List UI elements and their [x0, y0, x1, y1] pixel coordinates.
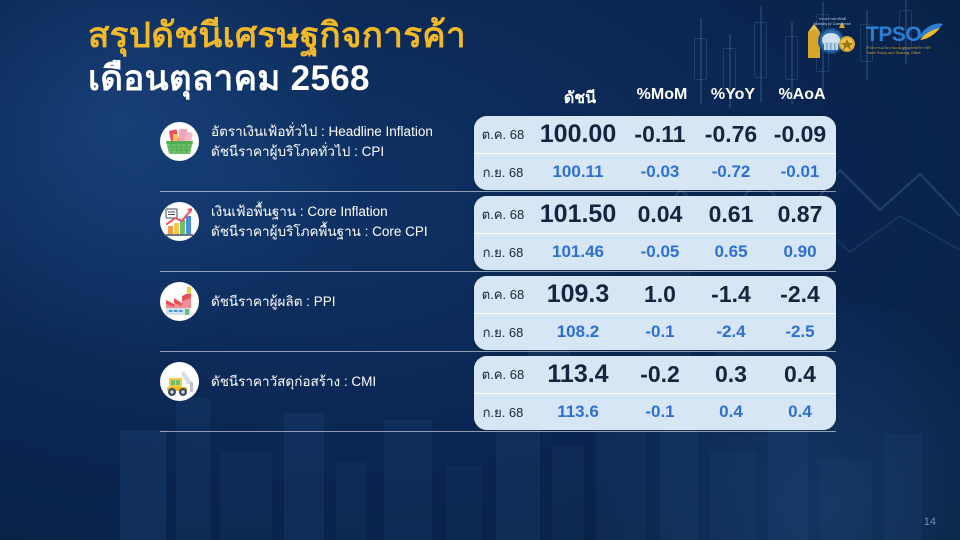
current-period-row: ต.ค. 68 109.3 1.0 -1.4 -2.4	[474, 276, 836, 313]
cell-period: ก.ย. 68	[474, 322, 532, 343]
cell-mom: -0.11	[624, 121, 696, 148]
previous-period-row: ก.ย. 68 101.46 -0.05 0.65 0.90	[474, 233, 836, 270]
previous-period-row: ก.ย. 68 113.6 -0.1 0.4 0.4	[474, 393, 836, 430]
row-label-line-1: อัตราเงินเฟ้อทั่วไป : Headline Inflation	[211, 124, 433, 139]
cell-index: 109.3	[532, 280, 624, 309]
data-card[interactable]: ต.ค. 68 109.3 1.0 -1.4 -2.4 ก.ย. 68 108.…	[474, 276, 836, 350]
tpso-logo: TPSO สำนักงานนโยบายและยุทธศาสตร์การค้า T…	[866, 18, 944, 60]
row-label-group: ดัชนีราคาวัสดุก่อสร้าง : CMI	[160, 362, 490, 401]
cell-period: ก.ย. 68	[474, 242, 532, 263]
cell-period: ก.ย. 68	[474, 162, 532, 183]
cell-aoa: -0.09	[766, 121, 834, 148]
cell-yoy: -2.4	[696, 322, 766, 342]
column-header-yoy: %YoY	[698, 86, 768, 111]
cell-yoy: -1.4	[696, 281, 766, 308]
cell-yoy: 0.61	[696, 201, 766, 228]
row-label-group: เงินเฟ้อพื้นฐาน : Core Inflation ดัชนีรา…	[160, 202, 490, 241]
cell-aoa: -0.01	[766, 162, 834, 182]
cell-aoa: 0.87	[766, 201, 834, 228]
slide-root: สรุปดัชนีเศรษฐกิจการค้า เดือนตุลาคม 2568…	[0, 0, 960, 540]
previous-period-row: ก.ย. 68 100.11 -0.03 -0.72 -0.01	[474, 153, 836, 190]
cell-aoa: 0.4	[766, 402, 834, 422]
cell-index: 108.2	[532, 322, 624, 342]
cell-period: ต.ค. 68	[474, 204, 532, 225]
anniversary-caption-en: Ministry of Commerce	[814, 22, 851, 26]
page-number: 14	[924, 516, 936, 528]
tpso-subtitle-en: Trade Policy and Strategy Office	[866, 51, 921, 55]
column-header-aoa: %AoA	[768, 86, 836, 111]
cell-mom: -0.03	[624, 162, 696, 182]
current-period-row: ต.ค. 68 113.4 -0.2 0.3 0.4	[474, 356, 836, 393]
row-label-text: ดัชนีราคาผู้ผลิต : PPI	[211, 292, 335, 312]
data-card[interactable]: ต.ค. 68 101.50 0.04 0.61 0.87 ก.ย. 68 10…	[474, 196, 836, 270]
cell-index: 113.6	[532, 402, 624, 422]
column-header-period	[476, 86, 534, 111]
table-rows: อัตราเงินเฟ้อทั่วไป : Headline Inflation…	[0, 112, 960, 432]
current-period-row: ต.ค. 68 101.50 0.04 0.61 0.87	[474, 196, 836, 233]
cell-index: 101.50	[532, 200, 624, 229]
cell-mom: 1.0	[624, 281, 696, 308]
cell-aoa: 0.90	[766, 242, 834, 262]
cell-mom: -0.1	[624, 402, 696, 422]
cell-index: 101.46	[532, 242, 624, 262]
row-label-group: ดัชนีราคาผู้ผลิต : PPI	[160, 282, 490, 321]
tpso-acronym: TPSO	[866, 23, 921, 47]
tpso-subtitle-th: สำนักงานนโยบายและยุทธศาสตร์การค้า	[866, 46, 931, 50]
row-label-text: ดัชนีราคาวัสดุก่อสร้าง : CMI	[211, 372, 376, 392]
cell-aoa: 0.4	[766, 361, 834, 388]
anniversary-caption-th: กระทรวงพาณิชย์	[819, 17, 846, 21]
cell-period: ต.ค. 68	[474, 124, 532, 145]
factory-icon	[160, 282, 199, 321]
row-label-text: อัตราเงินเฟ้อทั่วไป : Headline Inflation…	[211, 122, 433, 161]
row-label-line-2: ดัชนีราคาผู้บริโภคพื้นฐาน : Core CPI	[211, 222, 428, 242]
title-line-2: เดือนตุลาคม 2568	[88, 59, 466, 98]
column-header-mom: %MoM	[626, 86, 698, 111]
shopping-basket-icon	[160, 122, 199, 161]
cell-period: ต.ค. 68	[474, 284, 532, 305]
cell-mom: -0.2	[624, 361, 696, 388]
table-row[interactable]: ดัชนีราคาวัสดุก่อสร้าง : CMI ต.ค. 68 113…	[0, 352, 960, 432]
cell-yoy: -0.72	[696, 162, 766, 182]
table-row[interactable]: อัตราเงินเฟ้อทั่วไป : Headline Inflation…	[0, 112, 960, 192]
cell-mom: -0.1	[624, 322, 696, 342]
cell-mom: -0.05	[624, 242, 696, 262]
current-period-row: ต.ค. 68 100.00 -0.11 -0.76 -0.09	[474, 116, 836, 153]
page-title: สรุปดัชนีเศรษฐกิจการค้า เดือนตุลาคม 2568	[88, 16, 466, 98]
title-line-1: สรุปดัชนีเศรษฐกิจการค้า	[88, 16, 466, 55]
row-label-line-1: เงินเฟ้อพื้นฐาน : Core Inflation	[211, 204, 388, 219]
105-years-ministry-of-commerce-logo: กระทรวงพาณิชย์ Ministry of Commerce	[800, 18, 856, 60]
cell-period: ก.ย. 68	[474, 402, 532, 423]
previous-period-row: ก.ย. 68 108.2 -0.1 -2.4 -2.5	[474, 313, 836, 350]
table-column-headers: ดัชนี %MoM %YoY %AoA	[476, 86, 836, 111]
cell-mom: 0.04	[624, 201, 696, 228]
cell-yoy: 0.3	[696, 361, 766, 388]
table-row[interactable]: เงินเฟ้อพื้นฐาน : Core Inflation ดัชนีรา…	[0, 192, 960, 272]
row-label-line-1: ดัชนีราคาผู้ผลิต : PPI	[211, 294, 335, 309]
bulldozer-icon	[160, 362, 199, 401]
bar-chart-growth-icon	[160, 202, 199, 241]
cell-yoy: 0.65	[696, 242, 766, 262]
logo-group: กระทรวงพาณิชย์ Ministry of Commerce T	[800, 18, 944, 60]
column-header-index: ดัชนี	[534, 86, 626, 111]
cell-index: 100.11	[532, 162, 624, 182]
row-label-line-2: ดัชนีราคาผู้บริโภคทั่วไป : CPI	[211, 142, 433, 162]
cell-yoy: -0.76	[696, 121, 766, 148]
cell-aoa: -2.4	[766, 281, 834, 308]
data-card[interactable]: ต.ค. 68 100.00 -0.11 -0.76 -0.09 ก.ย. 68…	[474, 116, 836, 190]
row-divider	[160, 431, 836, 432]
cell-yoy: 0.4	[696, 402, 766, 422]
cell-aoa: -2.5	[766, 322, 834, 342]
row-label-text: เงินเฟ้อพื้นฐาน : Core Inflation ดัชนีรา…	[211, 202, 428, 241]
tpso-swoosh-icon	[918, 22, 944, 44]
data-card[interactable]: ต.ค. 68 113.4 -0.2 0.3 0.4 ก.ย. 68 113.6…	[474, 356, 836, 430]
table-row[interactable]: ดัชนีราคาผู้ผลิต : PPI ต.ค. 68 109.3 1.0…	[0, 272, 960, 352]
row-label-line-1: ดัชนีราคาวัสดุก่อสร้าง : CMI	[211, 374, 376, 389]
row-label-group: อัตราเงินเฟ้อทั่วไป : Headline Inflation…	[160, 122, 490, 161]
cell-index: 113.4	[532, 360, 624, 389]
cell-period: ต.ค. 68	[474, 364, 532, 385]
cell-index: 100.00	[532, 120, 624, 149]
